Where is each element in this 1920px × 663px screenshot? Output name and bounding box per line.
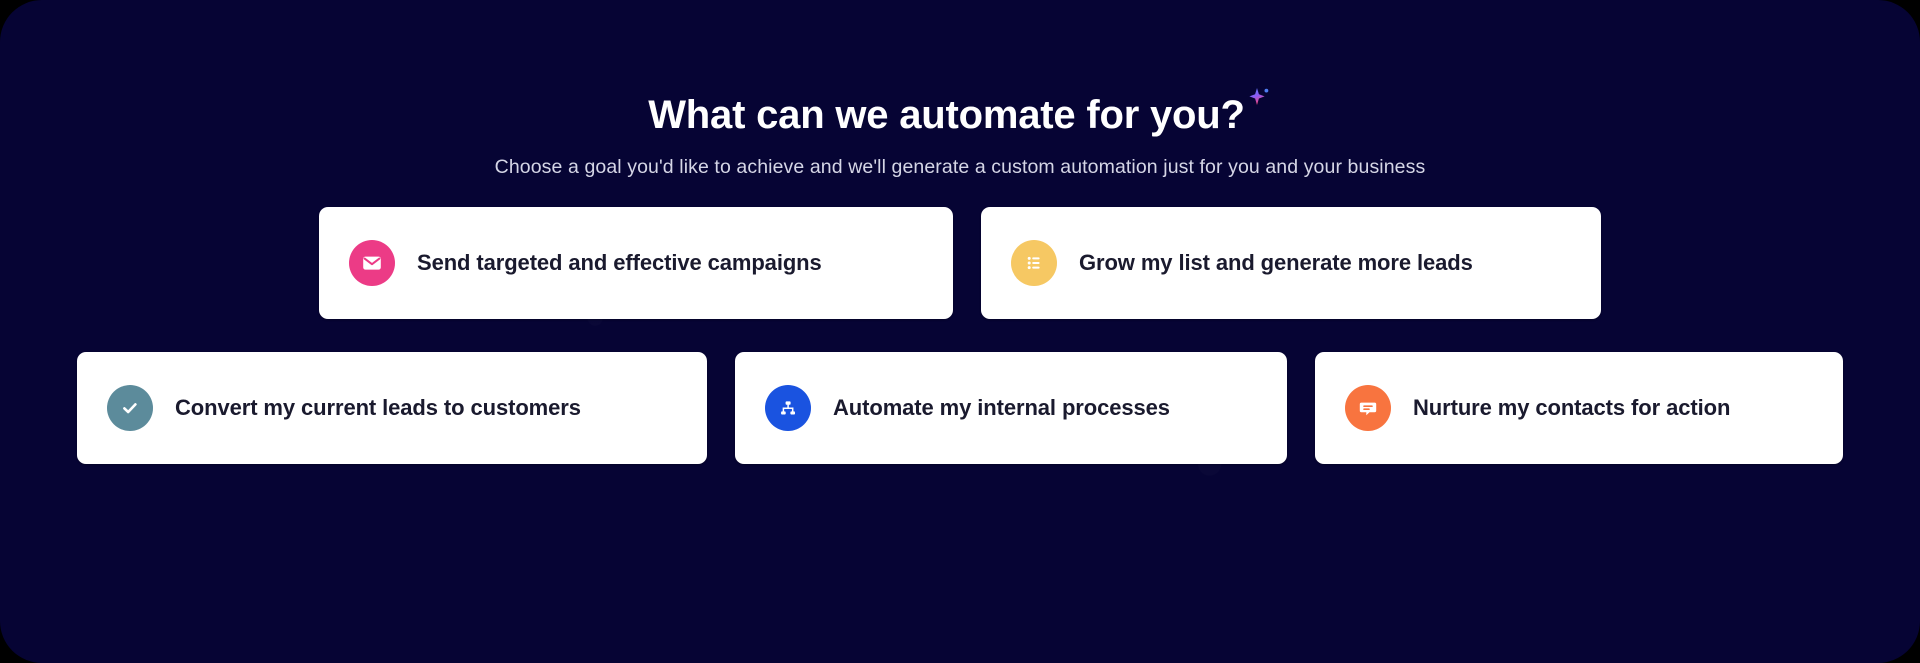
goal-card-nurture-contacts[interactable]: Nurture my contacts for action (1315, 352, 1843, 464)
goal-card-label: Nurture my contacts for action (1413, 395, 1730, 421)
goal-card-automate-processes[interactable]: Automate my internal processes (735, 352, 1287, 464)
goal-card-label: Convert my current leads to customers (175, 395, 581, 421)
list-icon (1011, 240, 1057, 286)
goal-row-1: Send targeted and effective campaigns (319, 207, 1601, 319)
goal-row-2: Convert my current leads to customers (77, 352, 1843, 464)
sitemap-icon (765, 385, 811, 431)
goal-card-label: Grow my list and generate more leads (1079, 250, 1473, 276)
goal-card-convert-leads[interactable]: Convert my current leads to customers (77, 352, 707, 464)
goal-card-grid: Send targeted and effective campaigns (0, 207, 1920, 464)
goal-card-send-campaigns[interactable]: Send targeted and effective campaigns (319, 207, 953, 319)
sparkle-icon (1246, 86, 1272, 112)
check-circle-icon (107, 385, 153, 431)
page-subtitle: Choose a goal you'd like to achieve and … (495, 156, 1426, 179)
page-title: What can we automate for you? (648, 94, 1272, 136)
goal-card-label: Send targeted and effective campaigns (417, 250, 822, 276)
page-title-text: What can we automate for you? (648, 94, 1245, 136)
goal-card-label: Automate my internal processes (833, 395, 1170, 421)
chat-bubble-icon (1345, 385, 1391, 431)
goal-card-grow-list[interactable]: Grow my list and generate more leads (981, 207, 1601, 319)
envelope-icon (349, 240, 395, 286)
automation-goal-picker-panel: What can we automate for you? Choose a g… (0, 0, 1920, 663)
